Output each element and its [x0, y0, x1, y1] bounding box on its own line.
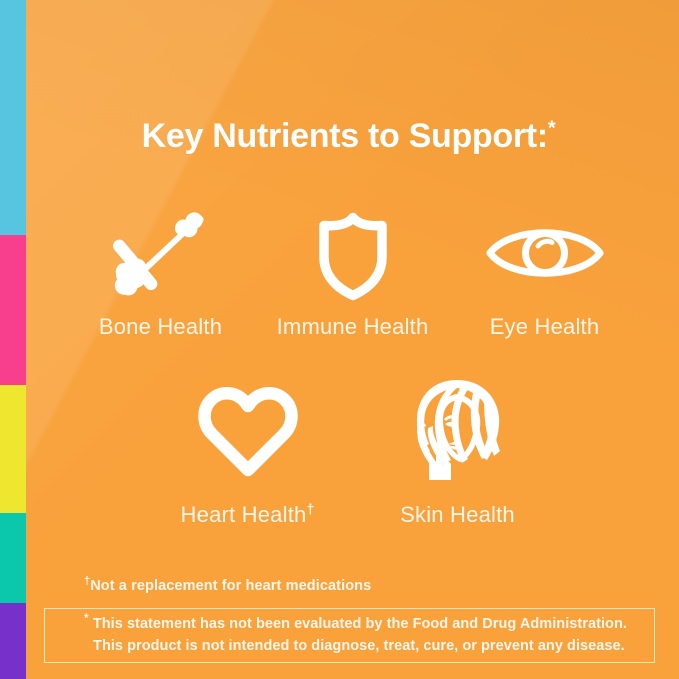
- benefit-item-skin-health: Skin Health: [353, 378, 563, 528]
- fda-disclaimer-line-1: * This statement has not been evaluated …: [84, 614, 627, 635]
- benefit-label-text: Heart Health: [181, 502, 307, 527]
- bone-icon-container: [109, 204, 213, 302]
- benefit-item-eye-health: Eye Health: [449, 204, 641, 340]
- eye-icon: [484, 218, 606, 288]
- page-title-text: Key Nutrients to Support:: [142, 117, 548, 155]
- stripe-swatch-purple: [0, 603, 26, 679]
- fda-disclaimer-text: * This statement has not been evaluated …: [72, 614, 627, 656]
- fda-disclaimer-box: * This statement has not been evaluated …: [44, 608, 655, 663]
- fda-disclaimer-line-2: This product is not intended to diagnose…: [84, 636, 627, 657]
- dagger-footnote-text: Not a replacement for heart medications: [90, 578, 371, 594]
- stripe-swatch-teal: [0, 513, 26, 603]
- heart-icon: [196, 386, 300, 482]
- benefit-label-dagger: †: [306, 501, 314, 517]
- shield-icon: [312, 205, 394, 301]
- benefit-label-immune-health: Immune Health: [277, 314, 429, 340]
- benefit-label-eye-health: Eye Health: [490, 314, 600, 340]
- benefit-item-heart-health: Heart Health†: [143, 378, 353, 528]
- benefit-label-text: Immune Health: [277, 314, 429, 339]
- shield-icon-container: [312, 204, 394, 302]
- stripe-swatch-yellow: [0, 385, 26, 513]
- benefit-label-skin-health: Skin Health: [400, 502, 515, 528]
- benefits-row-1: Bone Health Immune Health: [26, 204, 679, 340]
- page-title-asterisk: *: [548, 118, 555, 140]
- benefit-label-text: Bone Health: [99, 314, 222, 339]
- heart-icon-container: [196, 378, 300, 490]
- fda-disclaimer-line-1-text: This statement has not been evaluated by…: [93, 616, 627, 632]
- eye-icon-container: [484, 204, 606, 302]
- stripe-swatch-pink: [0, 235, 26, 385]
- nutrient-benefits-infographic: Key Nutrients to Support:*: [0, 0, 679, 679]
- dagger-footnote: †Not a replacement for heart medications: [84, 578, 371, 594]
- benefit-label-heart-health: Heart Health†: [181, 502, 315, 528]
- benefit-label-bone-health: Bone Health: [99, 314, 222, 340]
- benefit-item-bone-health: Bone Health: [65, 204, 257, 340]
- bone-icon: [109, 207, 213, 299]
- benefits-row-2: Heart Health†: [26, 378, 679, 528]
- benefit-label-text: Eye Health: [490, 314, 600, 339]
- face-icon-container: [404, 378, 512, 490]
- benefit-item-immune-health: Immune Health: [257, 204, 449, 340]
- left-color-stripe: [0, 0, 26, 679]
- page-title: Key Nutrients to Support:*: [0, 117, 679, 156]
- fda-disclaimer-marker: *: [84, 612, 89, 626]
- benefit-label-text: Skin Health: [400, 502, 515, 527]
- face-icon: [404, 378, 512, 490]
